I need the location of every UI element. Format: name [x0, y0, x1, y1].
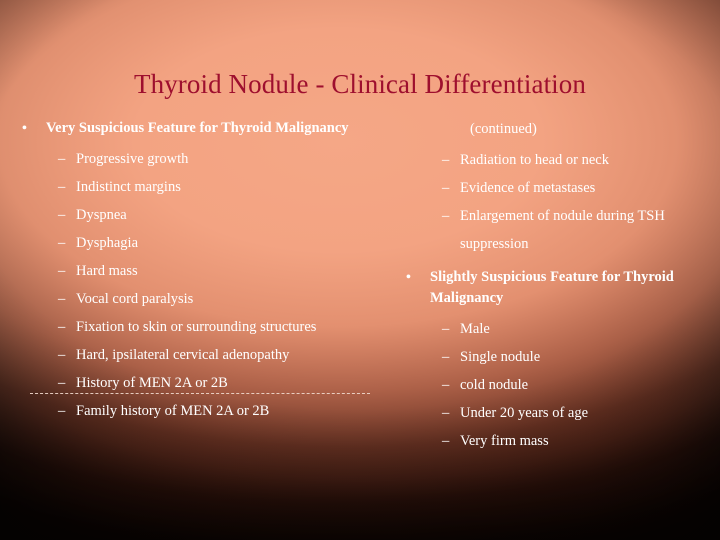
list-item-label: History of MEN 2A or 2B [76, 375, 228, 391]
dash-marker-icon: – [442, 371, 449, 399]
dash-marker-icon: – [58, 397, 65, 425]
list-item: – Single nodule [398, 343, 708, 371]
dash-marker-icon: – [58, 313, 65, 341]
list-item: – Hard mass [14, 257, 396, 285]
list-item: – Dyspnea [14, 201, 396, 229]
list-item-label: Hard mass [76, 263, 138, 279]
list-item-label: Progressive growth [76, 151, 188, 167]
list-item: – Evidence of metastases [398, 174, 708, 202]
bullet-level1-label: Very Suspicious Feature for Thyroid Mali… [46, 120, 349, 136]
list-item-label: Vocal cord paralysis [76, 291, 193, 307]
bullet-level1-very-suspicious: • Very Suspicious Feature for Thyroid Ma… [14, 118, 396, 139]
list-item: – Radiation to head or neck [398, 146, 708, 174]
dash-marker-icon: – [442, 202, 449, 230]
bullet-dot-icon: • [406, 267, 411, 288]
dash-marker-icon: – [58, 173, 65, 201]
list-item: – Vocal cord paralysis [14, 285, 396, 313]
slide-canvas: Thyroid Nodule - Clinical Differentiatio… [0, 0, 720, 540]
list-item: – Fixation to skin or surrounding struct… [14, 313, 396, 341]
dash-marker-icon: – [442, 427, 449, 455]
list-item-label: Indistinct margins [76, 179, 181, 195]
list-item-label: Under 20 years of age [460, 405, 588, 421]
list-item: – Dysphagia [14, 229, 396, 257]
list-item: – Family history of MEN 2A or 2B [14, 397, 396, 425]
list-item: – Hard, ipsilateral cervical adenopathy [14, 341, 396, 369]
dash-marker-icon: – [58, 257, 65, 285]
dash-marker-icon: – [442, 174, 449, 202]
list-item-label: Enlargement of nodule during TSH suppres… [460, 202, 708, 258]
bullet-level1-label: Slightly Suspicious Feature for Thyroid … [430, 269, 674, 306]
dash-marker-icon: – [58, 201, 65, 229]
list-item: – Enlargement of nodule during TSH suppr… [398, 202, 708, 258]
list-item-label: Fixation to skin or surrounding structur… [76, 319, 316, 335]
right-content-column: (continued) – Radiation to head or neck … [398, 118, 708, 455]
list-item: – cold nodule [398, 371, 708, 399]
bullet-dot-icon: • [22, 118, 27, 139]
list-item-label: Hard, ipsilateral cervical adenopathy [76, 347, 289, 363]
dash-marker-icon: – [442, 343, 449, 371]
list-item-label: Single nodule [460, 349, 540, 365]
dashed-separator-line [30, 393, 370, 394]
list-item-label: cold nodule [460, 377, 528, 393]
dash-marker-icon: – [58, 229, 65, 257]
list-item: – Indistinct margins [14, 173, 396, 201]
list-item: – Progressive growth [14, 145, 396, 173]
list-item: – Male [398, 315, 708, 343]
dash-marker-icon: – [442, 399, 449, 427]
slide-title: Thyroid Nodule - Clinical Differentiatio… [0, 68, 720, 100]
list-item-label: Dyspnea [76, 207, 127, 223]
dash-marker-icon: – [58, 341, 65, 369]
dash-marker-icon: – [58, 285, 65, 313]
continued-label: (continued) [398, 118, 708, 140]
left-content-column: • Very Suspicious Feature for Thyroid Ma… [14, 118, 396, 425]
list-item-label: Very firm mass [460, 433, 549, 449]
list-item: – Very firm mass [398, 427, 708, 455]
continued-label-text: (continued) [470, 121, 537, 137]
dash-marker-icon: – [442, 315, 449, 343]
bullet-level1-slightly-suspicious: • Slightly Suspicious Feature for Thyroi… [398, 267, 708, 309]
dash-marker-icon: – [442, 146, 449, 174]
dash-marker-icon: – [58, 145, 65, 173]
list-item-label: Family history of MEN 2A or 2B [76, 403, 269, 419]
list-item-label: Dysphagia [76, 235, 138, 251]
list-item-label: Radiation to head or neck [460, 152, 609, 168]
list-item-label: Male [460, 321, 490, 337]
spacer [398, 258, 708, 267]
list-item-label: Evidence of metastases [460, 180, 595, 196]
list-item: – Under 20 years of age [398, 399, 708, 427]
